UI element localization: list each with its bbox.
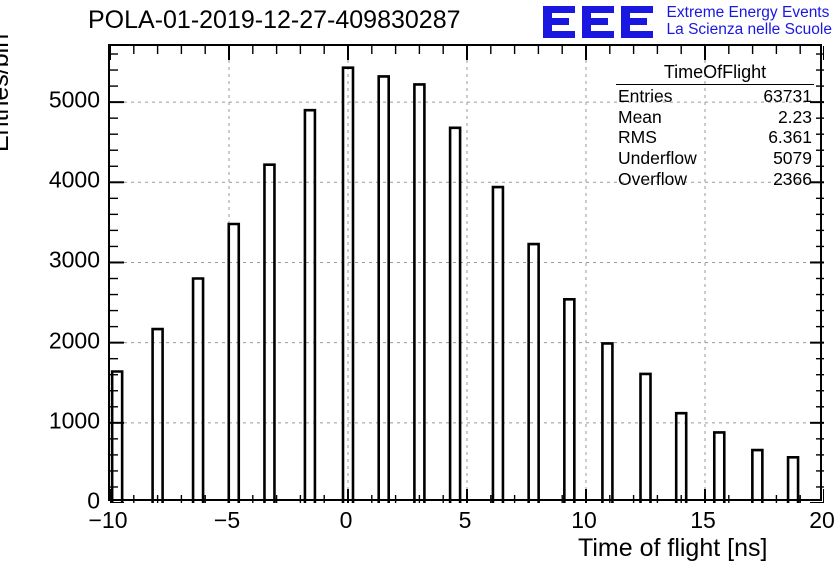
histogram-bar xyxy=(379,76,389,503)
stats-divider xyxy=(616,84,814,85)
eee-mark-icon xyxy=(541,2,659,42)
x-tick-label: 20 xyxy=(809,507,835,534)
stats-key: Overflow xyxy=(618,169,687,190)
x-tick-label: −5 xyxy=(214,507,240,534)
x-axis-title: Time of flight [ns] xyxy=(578,534,767,563)
stats-key: Mean xyxy=(618,107,662,128)
eee-logo-line1: Extreme Energy Events xyxy=(667,5,832,22)
stats-key: Entries xyxy=(618,86,672,107)
stats-value: 2.23 xyxy=(778,107,812,128)
y-tick-label: 4000 xyxy=(10,167,100,194)
histogram-bar xyxy=(153,329,163,503)
x-tick-label: 5 xyxy=(459,507,472,534)
histogram-bar xyxy=(788,457,798,503)
eee-logo-text: Extreme Energy Events La Scienza nelle S… xyxy=(667,5,832,38)
x-tick-label: 0 xyxy=(340,507,353,534)
eee-logo-block: Extreme Energy Events La Scienza nelle S… xyxy=(541,2,832,42)
y-tick-label: 1000 xyxy=(10,407,100,434)
y-tick-label: 2000 xyxy=(10,327,100,354)
histogram-bar xyxy=(414,84,424,503)
histogram-bar xyxy=(450,128,460,503)
stats-rows: Entries63731Mean2.23RMS6.361Underflow507… xyxy=(616,86,814,189)
stats-row: Overflow2366 xyxy=(616,169,814,190)
stats-value: 2366 xyxy=(773,169,812,190)
stats-value: 5079 xyxy=(773,148,812,169)
stats-row: Underflow5079 xyxy=(616,148,814,169)
histogram-bar xyxy=(641,374,651,503)
histogram-bar xyxy=(305,110,315,503)
histogram-bar xyxy=(752,450,762,503)
stats-value: 63731 xyxy=(763,86,812,107)
histogram-bar xyxy=(564,299,574,503)
x-tick-label: 15 xyxy=(690,507,716,534)
histogram-bar xyxy=(264,165,274,503)
stats-box: TimeOfFlight Entries63731Mean2.23RMS6.36… xyxy=(616,62,814,189)
stats-row: RMS6.361 xyxy=(616,127,814,148)
histogram-bar xyxy=(193,279,203,503)
y-tick-label: 3000 xyxy=(10,247,100,274)
histogram-bar xyxy=(229,224,239,503)
histogram-bar xyxy=(529,244,539,503)
histogram-bar xyxy=(676,413,686,503)
stats-title: TimeOfFlight xyxy=(616,62,814,84)
stats-key: RMS xyxy=(618,127,657,148)
histogram-bar xyxy=(714,432,724,503)
y-tick-label: 5000 xyxy=(10,87,100,114)
chart-page: POLA-01-2019-12-27-409830287 Extreme Ene… xyxy=(0,0,836,572)
stats-row: Mean2.23 xyxy=(616,107,814,128)
y-tick-label: 0 xyxy=(10,488,100,515)
eee-logo-line2: La Scienza nelle Scuole xyxy=(667,22,832,39)
x-tick-label: 10 xyxy=(571,507,597,534)
stats-row: Entries63731 xyxy=(616,86,814,107)
histogram-bar xyxy=(493,187,503,503)
stats-value: 6.361 xyxy=(768,127,812,148)
page-title: POLA-01-2019-12-27-409830287 xyxy=(88,6,461,35)
stats-key: Underflow xyxy=(618,148,697,169)
